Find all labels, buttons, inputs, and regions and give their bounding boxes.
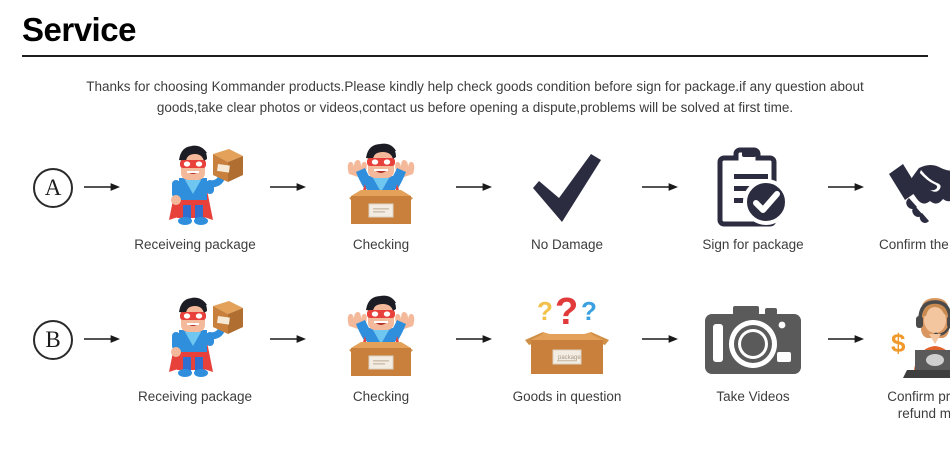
step-no-damage: No Damage xyxy=(492,140,642,254)
step-checking-b: Checking xyxy=(306,292,456,406)
support-agent-refund-icon: $ $ xyxy=(885,292,950,380)
step-goods-in-question: ? ? ? package xyxy=(492,292,642,406)
handshake-icon xyxy=(885,140,950,228)
row-a-badge-cell: A xyxy=(22,140,84,208)
intro-paragraph: Thanks for choosing Kommander products.P… xyxy=(28,77,922,119)
svg-text:?: ? xyxy=(555,292,578,333)
step-receiving-package-a: Receiveing package xyxy=(120,140,270,254)
arrow-b4 xyxy=(828,292,864,345)
arrow-a2 xyxy=(456,140,492,193)
step-sign-for-package: Sign for package xyxy=(678,140,828,254)
step-checking-a: Checking xyxy=(306,140,456,254)
arrow-a0 xyxy=(84,140,120,193)
step-caption: Confirm the delivery xyxy=(879,237,950,254)
arrow-right-icon xyxy=(828,181,864,193)
arrow-right-icon xyxy=(456,333,492,345)
arrow-a4 xyxy=(828,140,864,193)
step-caption: Receiving package xyxy=(138,389,252,406)
step-caption: Confirm problem, refund money xyxy=(887,389,950,423)
arrow-b2 xyxy=(456,292,492,345)
arrow-right-icon xyxy=(270,333,306,345)
step-take-videos: Take Videos xyxy=(678,292,828,406)
intro-line-2: goods,take clear photos or videos,contac… xyxy=(28,98,922,119)
arrow-right-icon xyxy=(84,181,120,193)
row-b-badge-cell: B xyxy=(22,292,84,360)
camera-icon xyxy=(703,292,803,380)
step-receiving-package-b: Receiving package xyxy=(120,292,270,406)
person-in-open-box-icon xyxy=(335,292,427,380)
step-caption: Checking xyxy=(353,389,409,406)
question-box-icon: ? ? ? package xyxy=(515,292,619,380)
step-caption: Checking xyxy=(353,237,409,254)
process-flow: A xyxy=(22,140,928,428)
page-title: Service xyxy=(22,0,928,48)
svg-text:$: $ xyxy=(891,328,906,358)
step-confirm-delivery: Confirm the delivery xyxy=(864,140,950,254)
title-divider xyxy=(22,55,928,57)
row-badge-a: A xyxy=(33,168,73,208)
checkmark-icon xyxy=(529,140,605,228)
step-caption: Receiveing package xyxy=(134,237,256,254)
flow-row-b: B xyxy=(22,292,928,428)
intro-line-1: Thanks for choosing Kommander products.P… xyxy=(28,77,922,98)
person-in-open-box-icon xyxy=(335,140,427,228)
svg-text:?: ? xyxy=(537,296,553,326)
arrow-a1 xyxy=(270,140,306,193)
superhero-holding-package-icon xyxy=(147,292,243,380)
arrow-right-icon xyxy=(828,333,864,345)
arrow-a3 xyxy=(642,140,678,193)
step-caption: Sign for package xyxy=(702,237,803,254)
flow-row-a: A xyxy=(22,140,928,276)
superhero-holding-package-icon xyxy=(147,140,243,228)
service-info-graphic: Service Thanks for choosing Kommander pr… xyxy=(0,0,950,467)
arrow-b0 xyxy=(84,292,120,345)
step-confirm-problem-refund: $ $ xyxy=(864,292,950,423)
clipboard-check-icon xyxy=(716,140,790,228)
arrow-right-icon xyxy=(456,181,492,193)
arrow-b3 xyxy=(642,292,678,345)
arrow-right-icon xyxy=(642,333,678,345)
arrow-right-icon xyxy=(642,181,678,193)
arrow-right-icon xyxy=(84,333,120,345)
arrow-b1 xyxy=(270,292,306,345)
svg-text:?: ? xyxy=(581,296,597,326)
step-caption: Goods in question xyxy=(513,389,622,406)
arrow-right-icon xyxy=(270,181,306,193)
row-badge-b: B xyxy=(33,320,73,360)
step-caption: No Damage xyxy=(531,237,603,254)
step-caption: Take Videos xyxy=(716,389,789,406)
